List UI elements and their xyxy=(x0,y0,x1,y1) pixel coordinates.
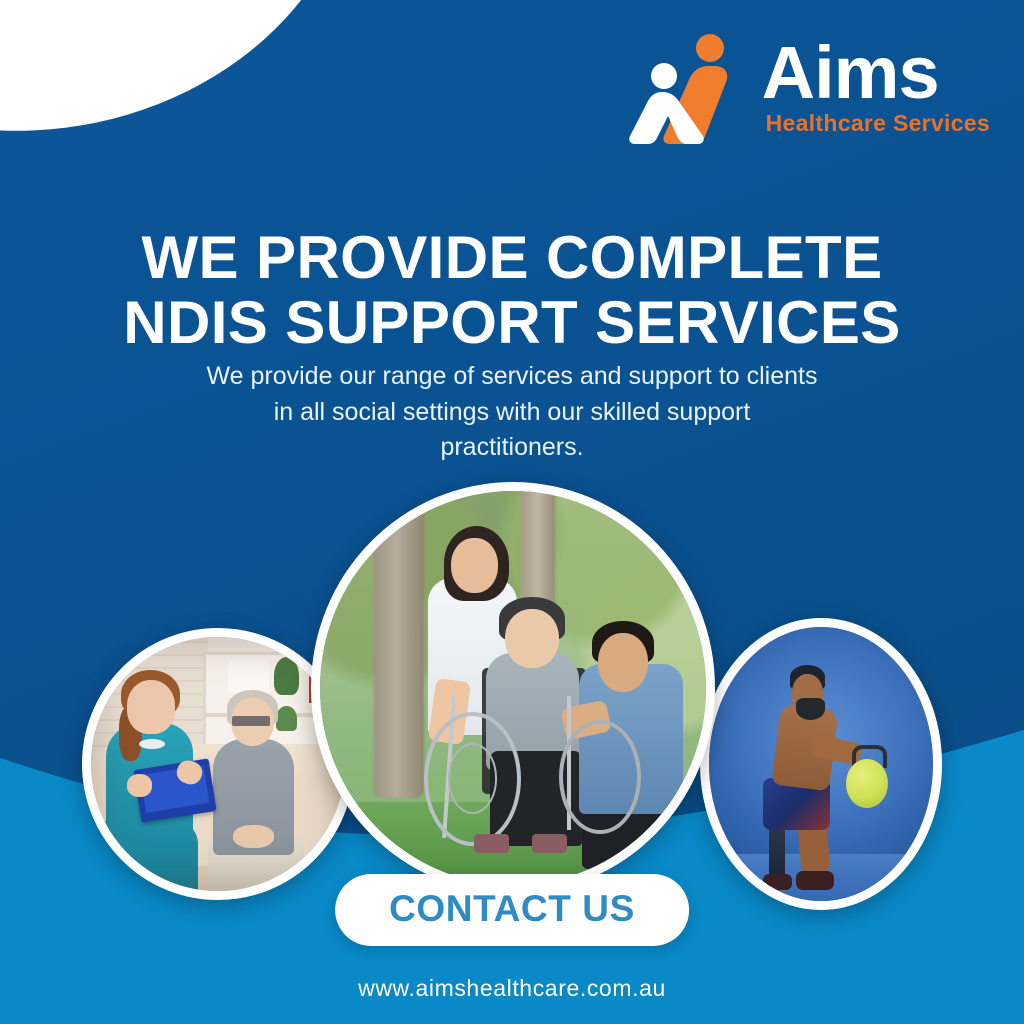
logo-wordmark: Aims xyxy=(762,39,939,107)
headline-line-2: NDIS SUPPORT SERVICES xyxy=(60,291,964,356)
nurse-with-elderly-client-scene xyxy=(91,637,345,891)
headline-line-1: WE PROVIDE COMPLETE xyxy=(60,226,964,291)
athlete-with-prosthetic-leg-photo xyxy=(700,618,942,910)
athlete-kettlebell-scene xyxy=(709,627,933,901)
page-title: WE PROVIDE COMPLETE NDIS SUPPORT SERVICE… xyxy=(0,226,1024,356)
contact-us-button[interactable]: CONTACT US xyxy=(335,874,689,946)
wheelchair-park-scene xyxy=(320,491,706,885)
logo-wordmark-group: Aims Healthcare Services xyxy=(762,39,990,136)
aims-figures-logo-mark xyxy=(628,32,746,144)
subheading-text: We provide our range of services and sup… xyxy=(0,359,1024,466)
brand-logo[interactable]: Aims Healthcare Services xyxy=(628,32,990,144)
wheelchair-client-with-carers-photo xyxy=(311,482,715,894)
website-url[interactable]: www.aimshealthcare.com.au xyxy=(0,975,1024,1002)
ndis-services-promo-poster: Aims Healthcare Services WE PROVIDE COMP… xyxy=(0,0,1024,1024)
